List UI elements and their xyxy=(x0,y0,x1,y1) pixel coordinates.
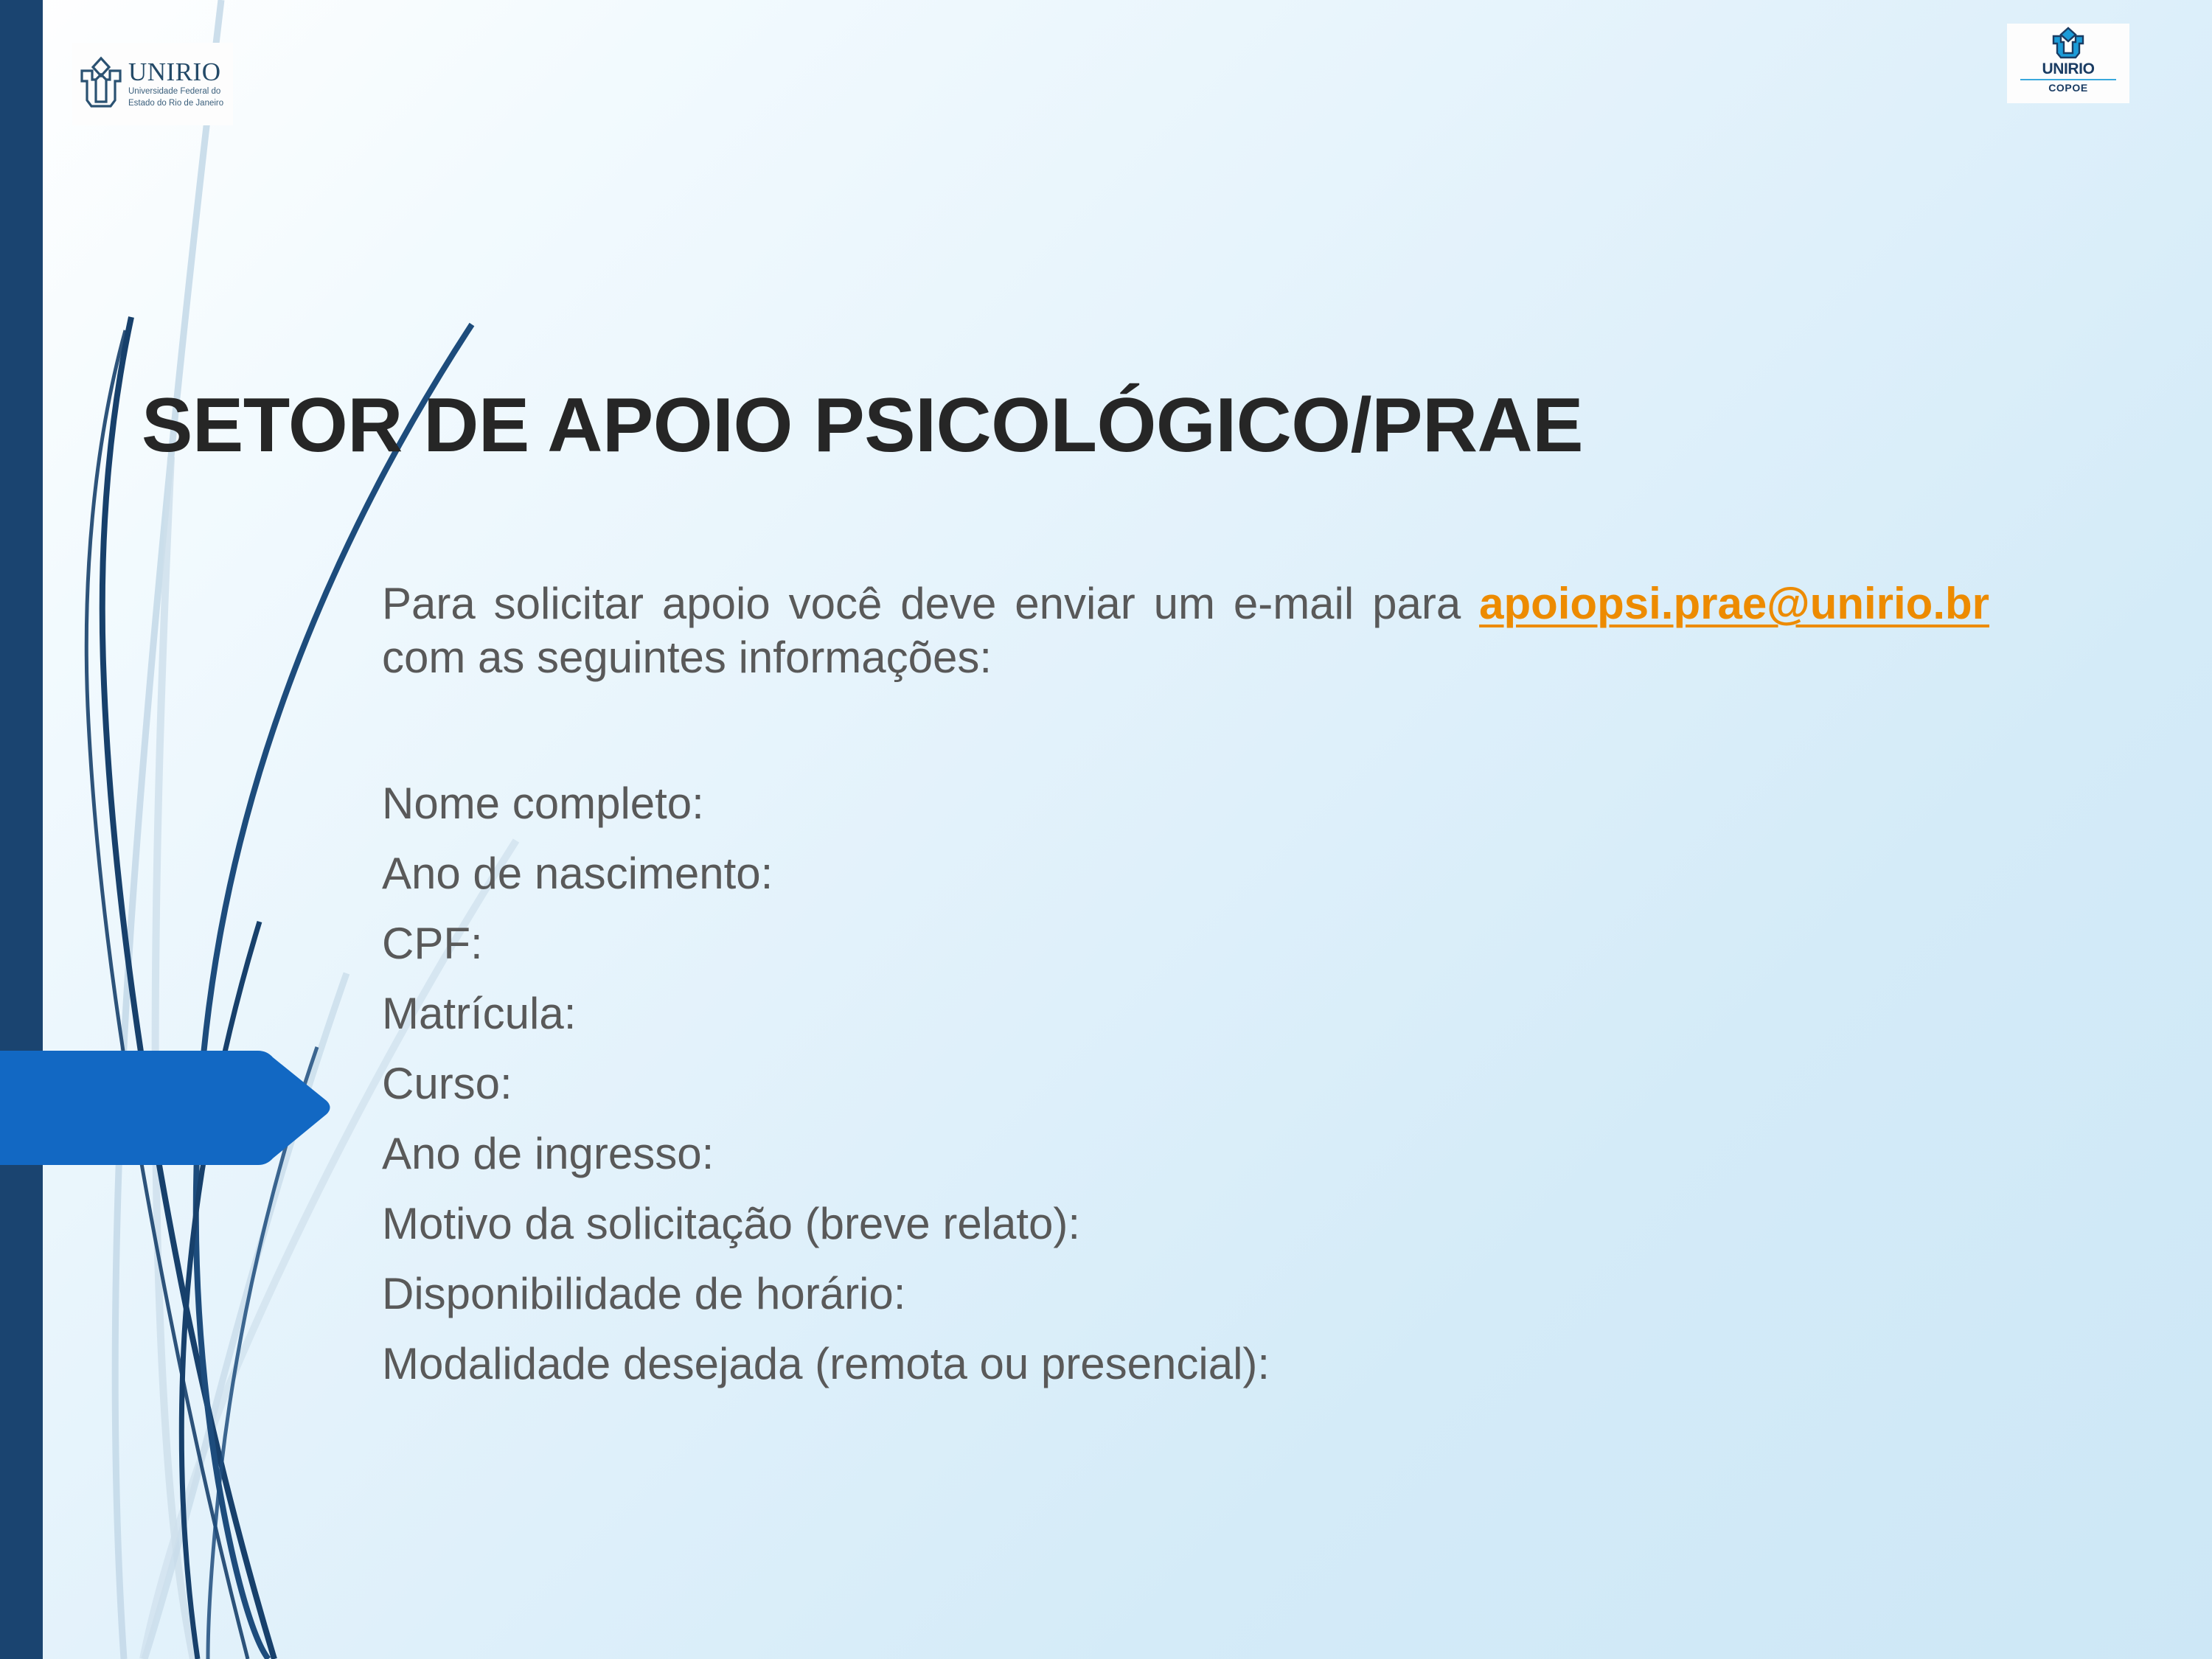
copoe-divider xyxy=(2020,79,2116,80)
slide-body: Para solicitar apoio você deve enviar um… xyxy=(382,577,1989,684)
unirio-emblem-icon xyxy=(78,55,124,114)
copoe-logo: UNIRIO COPOE xyxy=(2007,24,2129,103)
instruction-paragraph: Para solicitar apoio você deve enviar um… xyxy=(382,577,1989,684)
list-item: Motivo da solicitação (breve relato): xyxy=(382,1202,1989,1246)
required-fields-list: Nome completo: Ano de nascimento: CPF: M… xyxy=(382,782,1989,1412)
list-item: Ano de ingresso: xyxy=(382,1132,1989,1176)
unirio-wordmark: UNIRIO xyxy=(128,60,223,85)
unirio-subtitle-line1: Universidade Federal do xyxy=(128,86,223,97)
list-item: Matrícula: xyxy=(382,992,1989,1036)
copoe-emblem-icon xyxy=(2049,27,2087,60)
blue-arrow-banner xyxy=(0,1051,332,1165)
list-item: CPF: xyxy=(382,922,1989,966)
list-item: Modalidade desejada (remota ou presencia… xyxy=(382,1342,1989,1386)
list-item: Disponibilidade de horário: xyxy=(382,1272,1989,1316)
presentation-slide: UNIRIO Universidade Federal do Estado do… xyxy=(0,0,2212,1659)
copoe-unirio-wordmark: UNIRIO xyxy=(2042,61,2094,77)
page-title: SETOR DE APOIO PSICOLÓGICO/PRAE xyxy=(142,385,2118,466)
instruction-text-before: Para solicitar apoio você deve enviar um… xyxy=(382,579,1479,628)
list-item: Nome completo: xyxy=(382,782,1989,826)
support-email-link[interactable]: apoiopsi.prae@unirio.br xyxy=(1479,579,1989,628)
copoe-department-label: COPOE xyxy=(2048,83,2088,93)
list-item: Curso: xyxy=(382,1062,1989,1106)
list-item: Ano de nascimento: xyxy=(382,852,1989,896)
left-accent-bar xyxy=(0,0,43,1659)
unirio-subtitle-line2: Estado do Rio de Janeiro xyxy=(128,98,223,108)
unirio-logo: UNIRIO Universidade Federal do Estado do… xyxy=(72,43,233,125)
instruction-text-after: com as seguintes informações: xyxy=(382,633,992,682)
